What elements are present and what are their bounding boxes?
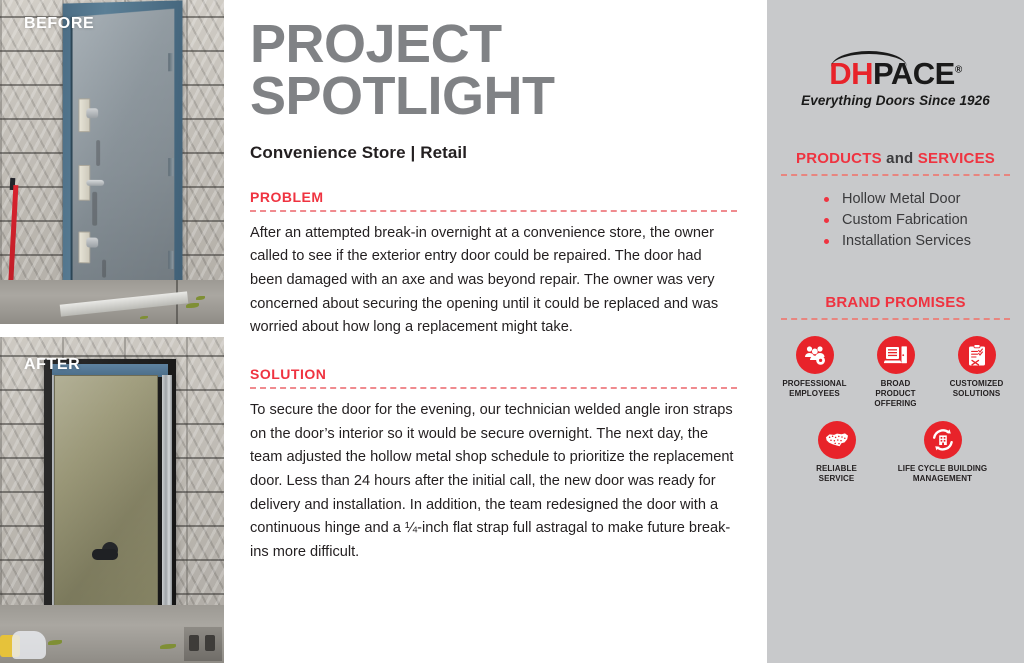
brand-promises-section: BRAND PROMISES PROFESSIONAL bbox=[781, 294, 1010, 484]
heading-conjunction: and bbox=[882, 150, 918, 167]
clipboard-check-icon bbox=[958, 336, 996, 374]
brand-promise-customized-solutions: CUSTOMIZED SOLUTIONS bbox=[943, 336, 1010, 409]
promise-label-line2: OFFERING bbox=[874, 399, 916, 408]
before-photo: BEFORE bbox=[0, 0, 224, 324]
logo-tagline: Everything Doors Since 1926 bbox=[801, 93, 990, 108]
products-list: Hollow Metal Door Custom Fabrication Ins… bbox=[820, 189, 971, 252]
products-heading-text: PRODUCTS bbox=[796, 150, 882, 167]
usa-map-icon bbox=[818, 421, 856, 459]
brand-promises-heading: BRAND PROMISES bbox=[781, 294, 1010, 311]
brand-promise-life-cycle-building-management: LIFE CYCLE BUILDING MANAGEMENT bbox=[895, 421, 991, 484]
main-content: PROJECT SPOTLIGHT Convenience Store | Re… bbox=[224, 0, 767, 663]
weed-2 bbox=[196, 296, 205, 300]
promise-label: RELIABLE SERVICE bbox=[816, 464, 857, 484]
brand-promise-reliable-service: RELIABLE SERVICE bbox=[801, 421, 873, 484]
solution-divider bbox=[250, 387, 737, 389]
logo-mark: DHPACE® bbox=[829, 58, 961, 89]
problem-divider bbox=[250, 210, 737, 212]
solution-section: SOLUTION To secure the door for the even… bbox=[250, 366, 737, 564]
new-door-slab bbox=[54, 375, 158, 625]
promise-label-line1: PROFESSIONAL bbox=[782, 379, 846, 388]
promise-label-line2: SERVICE bbox=[819, 474, 855, 483]
promise-label: CUSTOMIZED SOLUTIONS bbox=[950, 379, 1004, 399]
problem-body: After an attempted break-in overnight at… bbox=[250, 222, 737, 340]
brand-promises-row-2: RELIABLE SERVICE bbox=[781, 421, 1010, 484]
deadbolt-knob-bottom bbox=[86, 237, 98, 247]
axe-damage-mark-2 bbox=[92, 192, 97, 226]
logo-arc-icon bbox=[831, 51, 907, 67]
promise-label: LIFE CYCLE BUILDING MANAGEMENT bbox=[898, 464, 987, 484]
promise-label-line1: BROAD PRODUCT bbox=[875, 379, 915, 398]
page-title: PROJECT SPOTLIGHT bbox=[250, 18, 737, 123]
new-door-lever-handle bbox=[92, 549, 118, 560]
page-subtitle: Convenience Store | Retail bbox=[250, 143, 737, 163]
title-line-1: PROJECT bbox=[250, 14, 502, 74]
problem-heading: PROBLEM bbox=[250, 189, 737, 205]
building-cycle-icon bbox=[924, 421, 962, 459]
weed-3 bbox=[140, 316, 148, 319]
dhpace-logo[interactable]: DHPACE® Everything Doors Since 1926 bbox=[781, 58, 1010, 108]
list-item: Custom Fabrication bbox=[820, 210, 971, 231]
after-label: AFTER bbox=[24, 356, 80, 374]
promise-label-line1: RELIABLE bbox=[816, 464, 857, 473]
hinge-top bbox=[168, 53, 173, 71]
damaged-door-slab bbox=[71, 9, 175, 306]
new-door-frame bbox=[44, 359, 176, 631]
sidebar: DHPACE® Everything Doors Since 1926 PROD… bbox=[767, 0, 1024, 663]
deadbolt-knob-top bbox=[86, 108, 98, 118]
list-item: Installation Services bbox=[820, 231, 971, 252]
promise-label-line1: LIFE CYCLE BUILDING bbox=[898, 464, 987, 473]
weed-1 bbox=[186, 303, 199, 308]
promise-label-line1: CUSTOMIZED bbox=[950, 379, 1004, 388]
promise-label: BROAD PRODUCT OFFERING bbox=[862, 379, 929, 409]
brand-promises-row-1: PROFESSIONAL EMPLOYEES bbox=[781, 336, 1010, 409]
door-lever-handle bbox=[86, 180, 104, 186]
project-spotlight-page: BEFORE bbox=[0, 0, 1024, 663]
brand-promises-divider bbox=[781, 318, 1010, 320]
damaged-door-frame bbox=[63, 0, 183, 313]
products-services-section: PRODUCTS and SERVICES Hollow Metal Door … bbox=[781, 150, 1010, 252]
cinder-hole-right bbox=[205, 635, 215, 651]
product-catalog-icon bbox=[877, 336, 915, 374]
sidewalk-ground-after bbox=[0, 605, 224, 663]
registered-mark: ® bbox=[955, 65, 962, 76]
photo-divider-gap bbox=[0, 324, 224, 337]
promise-label-line2: MANAGEMENT bbox=[913, 474, 972, 483]
weed-after-1 bbox=[48, 640, 62, 645]
products-services-heading: PRODUCTS and SERVICES bbox=[781, 150, 1010, 167]
cinder-hole-left bbox=[189, 635, 199, 651]
after-photo: AFTER bbox=[0, 337, 224, 663]
promise-label-line2: EMPLOYEES bbox=[789, 389, 840, 398]
people-group-icon bbox=[796, 336, 834, 374]
weed-after-2 bbox=[160, 644, 176, 649]
promise-label-line2: SOLUTIONS bbox=[953, 389, 1001, 398]
promise-label: PROFESSIONAL EMPLOYEES bbox=[782, 379, 846, 399]
brand-promise-professional-employees: PROFESSIONAL EMPLOYEES bbox=[781, 336, 848, 409]
continuous-hinge bbox=[162, 375, 172, 625]
hinge-middle bbox=[168, 158, 173, 176]
before-label: BEFORE bbox=[24, 15, 94, 33]
title-line-2: SPOTLIGHT bbox=[250, 66, 555, 126]
axe-damage-mark-1 bbox=[96, 140, 100, 166]
axe-damage-mark-3 bbox=[102, 260, 106, 278]
list-item: Hollow Metal Door bbox=[820, 189, 971, 210]
photo-column: BEFORE bbox=[0, 0, 224, 663]
debris-bag bbox=[12, 631, 46, 659]
cinder-block bbox=[184, 627, 222, 661]
solution-body: To secure the door for the evening, our … bbox=[250, 399, 737, 564]
hinge-bottom bbox=[168, 251, 173, 269]
problem-section: PROBLEM After an attempted break-in over… bbox=[250, 189, 737, 340]
solution-heading: SOLUTION bbox=[250, 366, 737, 382]
services-heading-text: SERVICES bbox=[918, 150, 995, 167]
brand-promise-broad-product-offering: BROAD PRODUCT OFFERING bbox=[862, 336, 929, 409]
products-divider bbox=[781, 174, 1010, 176]
